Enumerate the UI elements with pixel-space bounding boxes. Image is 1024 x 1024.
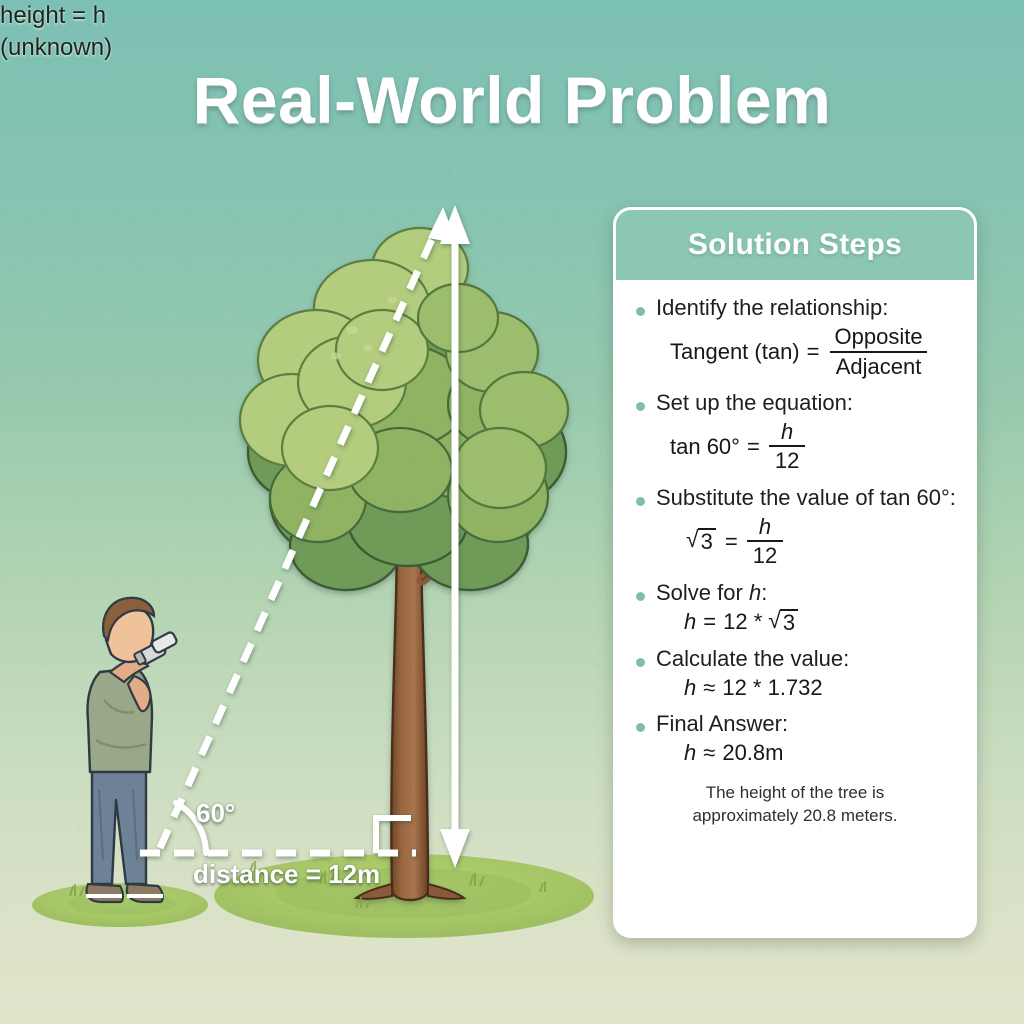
- step-3-radicand: 3: [698, 528, 716, 554]
- solution-card-title: Solution Steps: [688, 228, 902, 262]
- step-5-approx: ≈: [703, 675, 715, 700]
- step-4-title: Solve for h:: [656, 579, 958, 606]
- solution-steps-list: Identify the relationship: Tangent (tan)…: [616, 280, 974, 774]
- step-4-variable: h: [749, 580, 761, 605]
- step-6-title: Final Answer:: [656, 710, 958, 737]
- step-1-fraction: Opposite Adjacent: [829, 324, 929, 379]
- footer-line-2: approximately 20.8 meters.: [642, 805, 948, 828]
- step-1-denominator: Adjacent: [830, 351, 928, 379]
- angle-label: 60°: [196, 798, 235, 829]
- solution-step-2: Set up the equation: tan 60° = h 12: [630, 389, 958, 482]
- step-3-fraction: h 12: [747, 514, 783, 569]
- step-3-sqrt: √ 3: [686, 528, 716, 554]
- bullet-icon: [636, 723, 645, 732]
- step-1-equals: =: [807, 339, 820, 364]
- step-3-equals: =: [725, 529, 738, 554]
- step-4-var: h: [684, 609, 696, 634]
- step-5-expression: 12 * 1.732: [722, 675, 822, 700]
- solution-step-6: Final Answer: h ≈ 20.8m: [630, 710, 958, 774]
- bullet-icon: [636, 307, 645, 316]
- step-3-math: √ 3 = h 12: [684, 514, 958, 569]
- step-4-equals: =: [703, 609, 716, 634]
- solution-step-1: Identify the relationship: Tangent (tan)…: [630, 294, 958, 387]
- page-title: Real-World Problem: [0, 62, 1024, 138]
- step-5-math: h ≈ 12 * 1.732: [684, 675, 958, 700]
- distance-label: distance = 12m: [193, 859, 380, 890]
- step-6-expression: 20.8m: [722, 740, 783, 765]
- bullet-icon: [636, 658, 645, 667]
- step-4-sqrt: √ 3: [768, 609, 798, 635]
- solution-card-header: Solution Steps: [616, 210, 974, 280]
- step-2-math: tan 60° = h 12: [670, 419, 958, 474]
- bullet-icon: [636, 402, 645, 411]
- step-4-coefficient: 12 *: [723, 609, 762, 634]
- solution-step-5: Calculate the value: h ≈ 12 * 1.732: [630, 645, 958, 709]
- step-2-equals: =: [747, 434, 760, 459]
- step-4-math: h = 12 * √ 3: [684, 609, 958, 635]
- solution-card-footer: The height of the tree is approximately …: [616, 776, 974, 828]
- step-3-title: Substitute the value of tan 60°:: [656, 484, 958, 511]
- step-2-fraction: h 12: [769, 419, 805, 474]
- step-6-math: h ≈ 20.8m: [684, 740, 958, 765]
- solution-step-3: Substitute the value of tan 60°: √ 3 = h…: [630, 484, 958, 577]
- solution-step-4: Solve for h: h = 12 * √ 3: [630, 579, 958, 643]
- poster-canvas: Real-World Problem height = h (unknown) …: [0, 0, 1024, 1024]
- step-3-denominator: 12: [747, 540, 783, 568]
- step-1-math: Tangent (tan) = Opposite Adjacent: [670, 324, 958, 379]
- step-2-title: Set up the equation:: [656, 389, 958, 416]
- bullet-icon: [636, 592, 645, 601]
- step-1-title: Identify the relationship:: [656, 294, 958, 321]
- step-2-denominator: 12: [769, 445, 805, 473]
- step-1-numerator: Opposite: [829, 324, 929, 350]
- step-1-lhs: Tangent (tan): [670, 339, 800, 364]
- footer-line-1: The height of the tree is: [642, 782, 948, 805]
- step-5-title: Calculate the value:: [656, 645, 958, 672]
- solution-steps-card: Solution Steps Identify the relationship…: [613, 207, 977, 938]
- step-2-lhs: tan 60°: [670, 434, 740, 459]
- step-2-numerator: h: [775, 419, 799, 445]
- step-5-var: h: [684, 675, 696, 700]
- step-6-approx: ≈: [703, 740, 715, 765]
- bullet-icon: [636, 497, 645, 506]
- step-3-numerator: h: [753, 514, 777, 540]
- step-4-radicand: 3: [780, 609, 798, 635]
- step-6-var: h: [684, 740, 696, 765]
- observer-person-icon: [70, 598, 178, 902]
